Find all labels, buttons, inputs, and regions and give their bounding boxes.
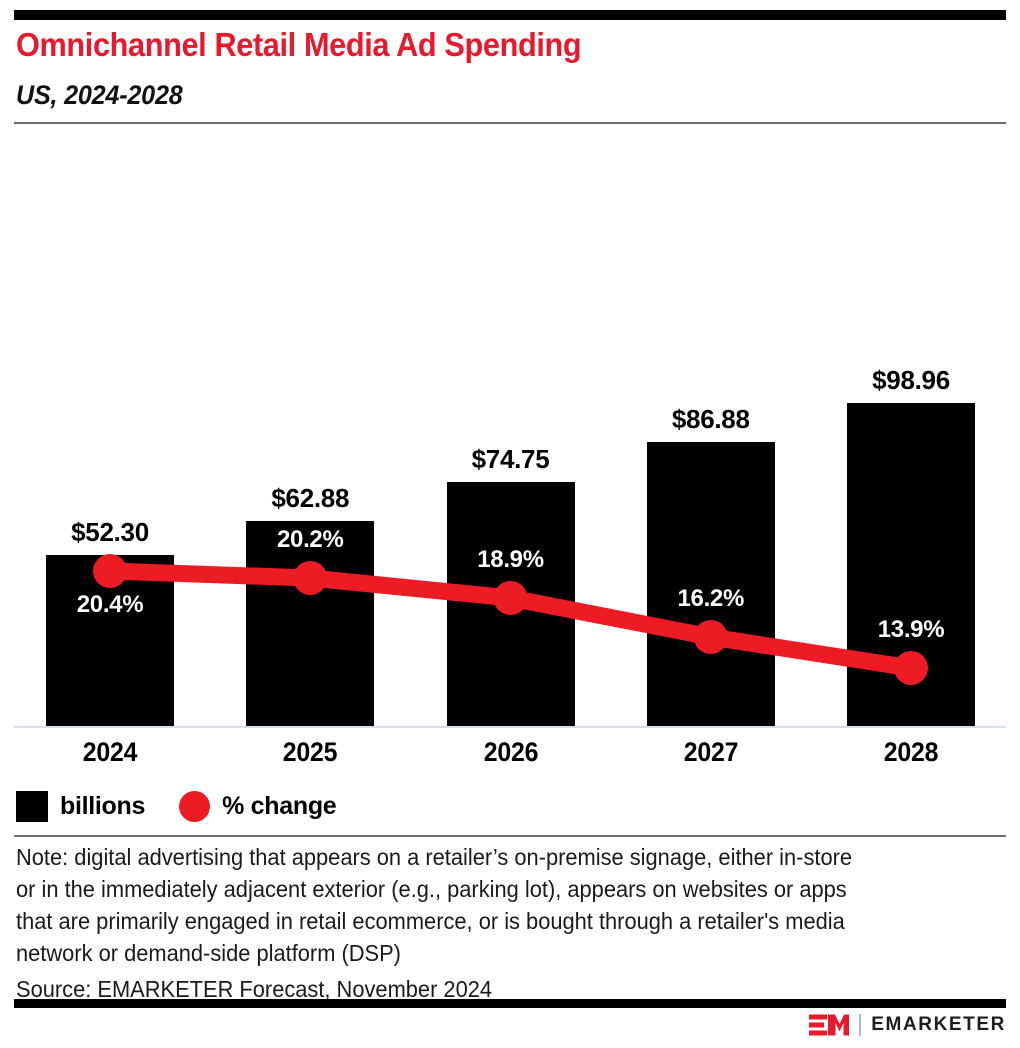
footnotes: Note: digital advertising that appears o…: [16, 841, 986, 1005]
legend-item-percent-change[interactable]: % change: [179, 791, 336, 822]
x-axis-baseline: [14, 726, 1006, 728]
x-tick-label-2024: 2024: [36, 737, 183, 768]
line-marker-2026[interactable]: [494, 581, 528, 615]
legend-label-billions: billions: [60, 792, 145, 821]
note-line-1: Note: digital advertising that appears o…: [16, 841, 938, 873]
emarketer-brand[interactable]: EMARKETER: [809, 1013, 1006, 1037]
header-divider: [14, 122, 1006, 124]
pct-label-2028: 13.9%: [821, 616, 1001, 644]
legend-item-billions[interactable]: billions: [16, 791, 145, 822]
chart-legend: billions % change: [16, 791, 336, 822]
percent-change-line: [0, 140, 1020, 740]
x-tick-label-2026: 2026: [437, 737, 584, 768]
red-circle-icon: [179, 791, 210, 822]
note-line-2: or in the immediately adjacent exterior …: [16, 873, 938, 905]
brand-wordmark: EMARKETER: [871, 1014, 1006, 1036]
chart-plot-area: $52.30 $62.88 $74.75 $86.88 $98.96 20.4%…: [0, 140, 1020, 740]
legend-label-percent-change: % change: [222, 792, 336, 821]
brand-divider: [859, 1014, 861, 1036]
top-rule: [14, 10, 1006, 20]
x-tick-label-2028: 2028: [837, 737, 984, 768]
x-tick-label-2027: 2027: [637, 737, 784, 768]
legend-divider: [14, 835, 1006, 837]
page-title: Omnichannel Retail Media Ad Spending: [16, 26, 581, 64]
black-square-icon: [16, 791, 48, 822]
bottom-rule: [14, 999, 1006, 1008]
x-tick-label-2025: 2025: [237, 737, 384, 768]
line-marker-2025[interactable]: [293, 561, 327, 595]
pct-label-2024: 20.4%: [20, 591, 200, 619]
em-logo-icon: [809, 1013, 849, 1037]
pct-label-2027: 16.2%: [621, 585, 801, 613]
line-marker-2027[interactable]: [694, 620, 728, 654]
line-marker-2024[interactable]: [93, 554, 127, 588]
pct-label-2025: 20.2%: [220, 526, 400, 554]
page-subtitle: US, 2024-2028: [16, 80, 182, 111]
line-marker-2028[interactable]: [894, 651, 928, 685]
note-line-4: network or demand-side platform (DSP): [16, 937, 938, 969]
note-line-3: that are primarily engaged in retail eco…: [16, 905, 938, 937]
pct-label-2026: 18.9%: [421, 546, 601, 574]
